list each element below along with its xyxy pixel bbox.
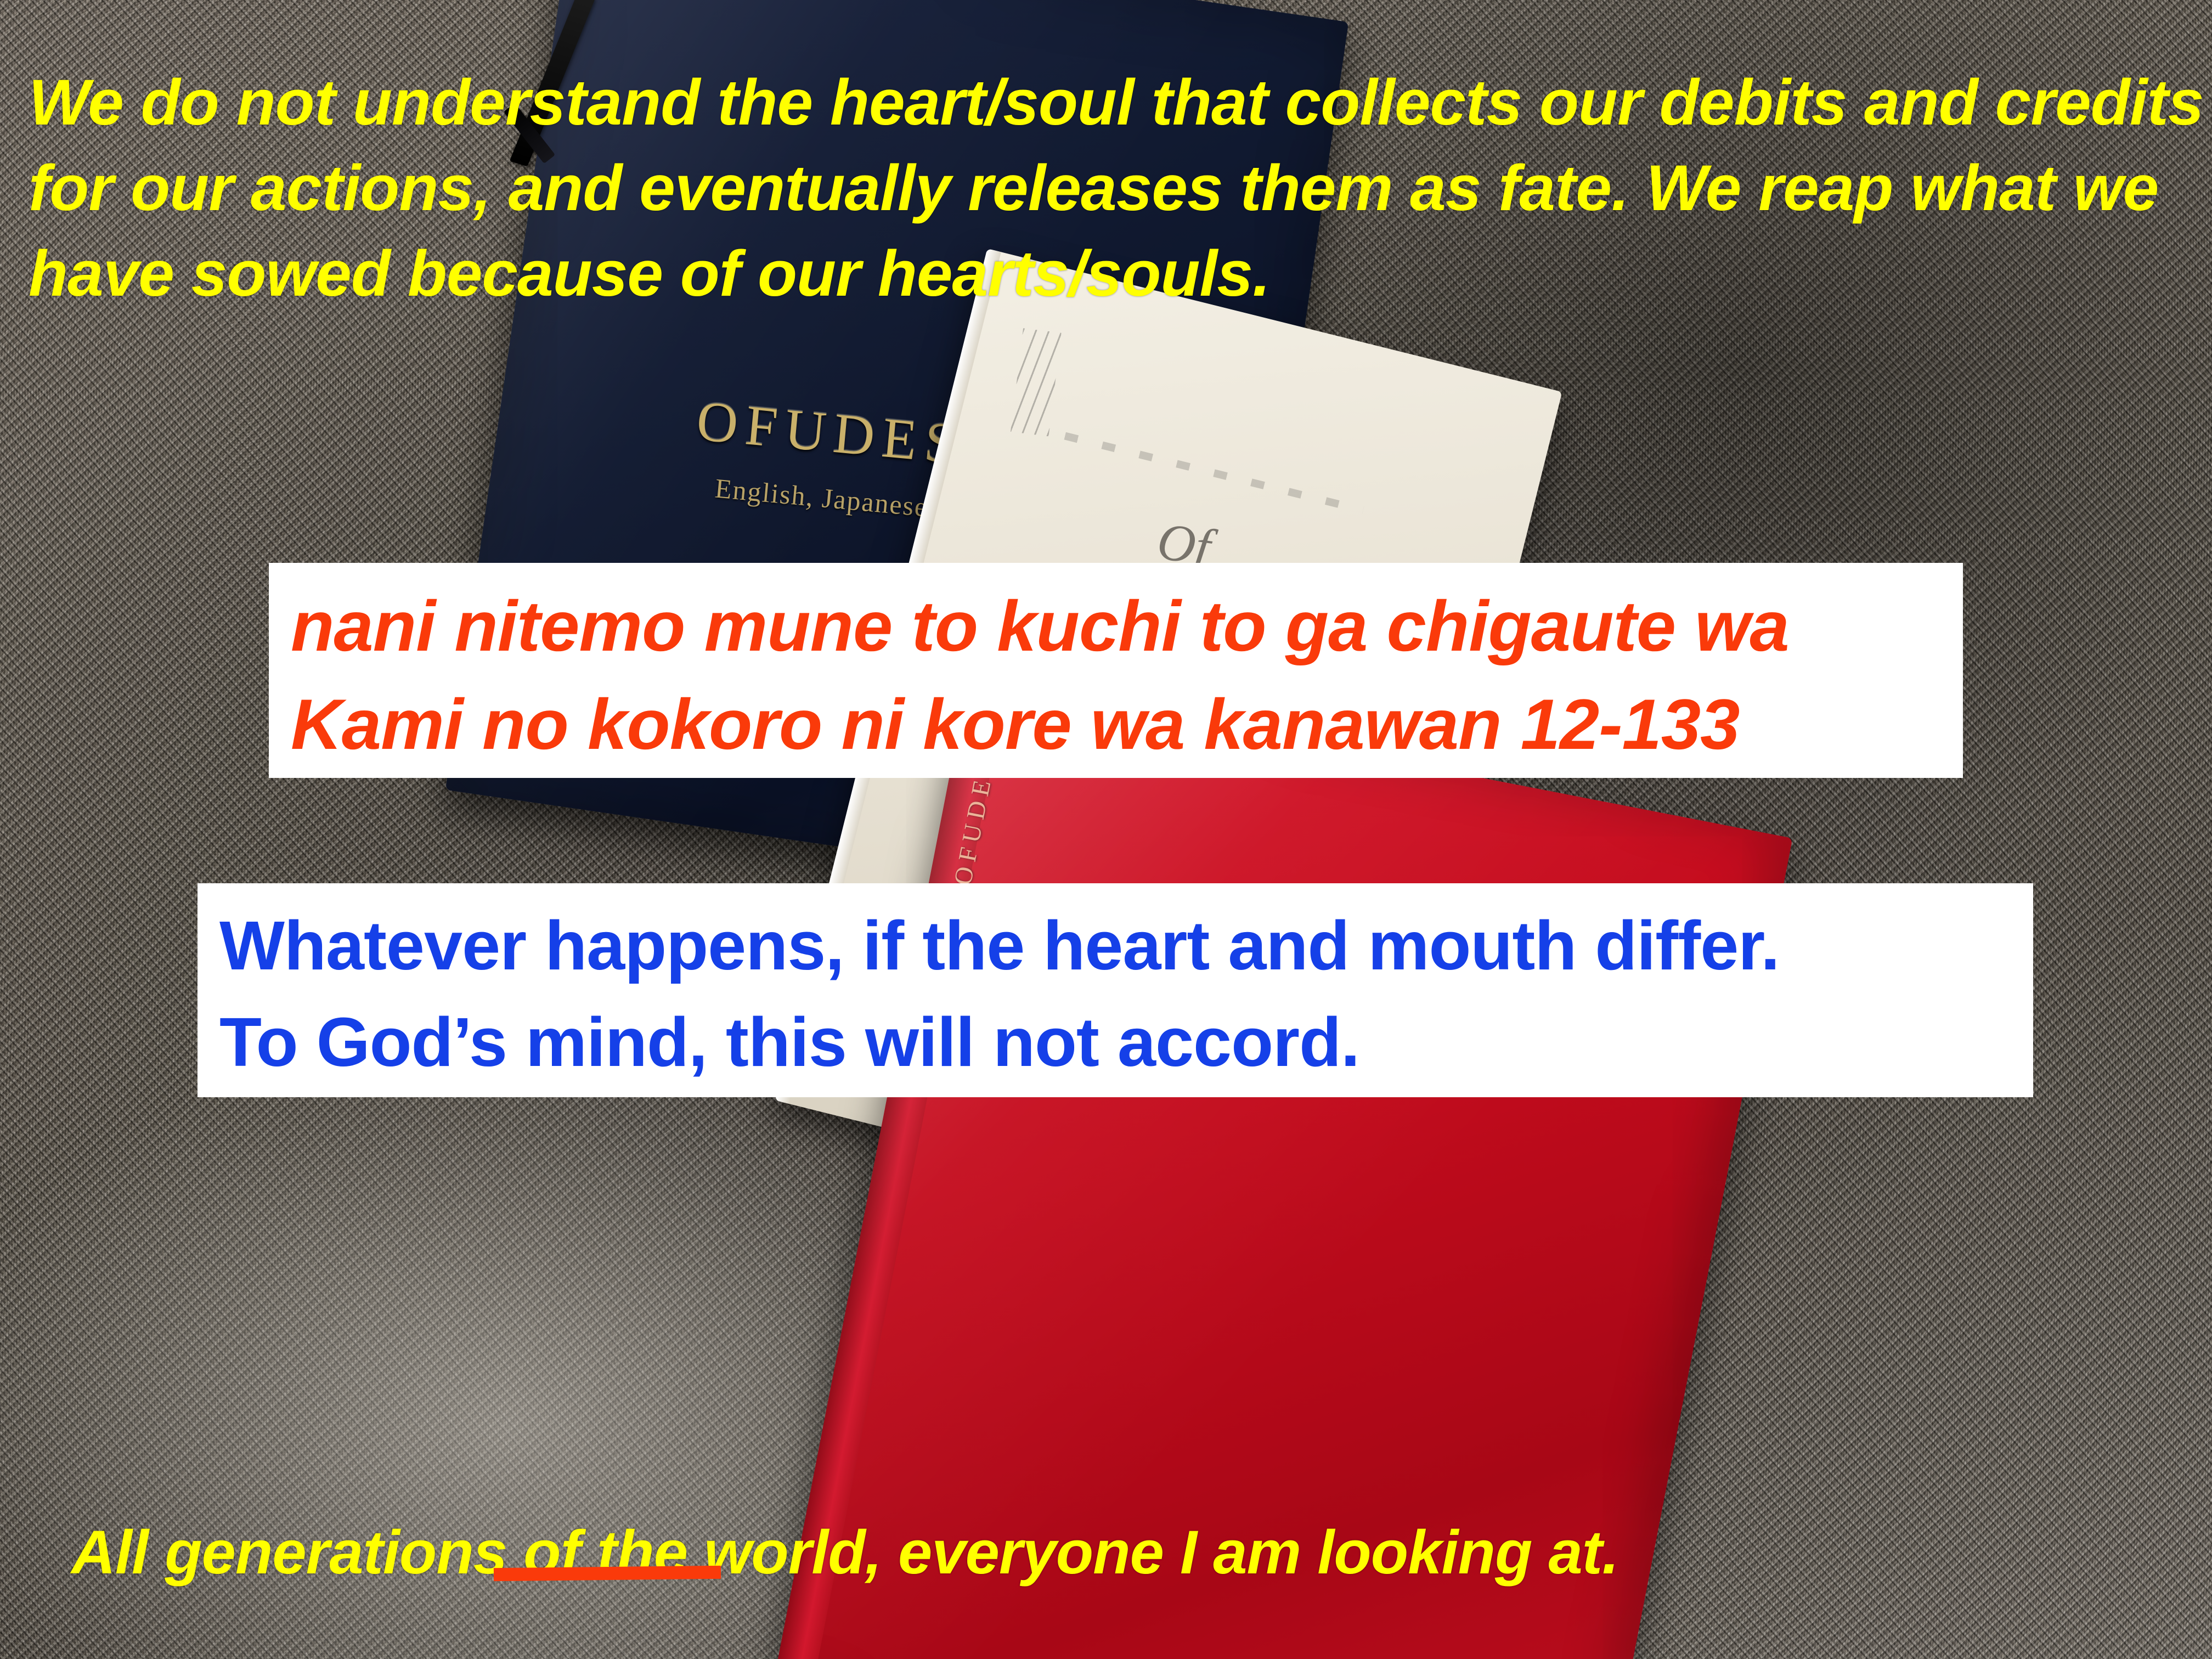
english-line-2: To God’s mind, this will not accord. [219, 994, 2011, 1091]
romaji-line-1: nani nitemo mune to kuchi to ga chigaute… [291, 577, 1941, 675]
romaji-verse-card: nani nitemo mune to kuchi to ga chigaute… [269, 563, 1963, 778]
bottom-caption-block: All generations of the world, everyone I… [71, 1413, 2211, 1659]
english-translation-card: Whatever happens, if the heart and mouth… [198, 883, 2033, 1097]
top-caption-text: We do not understand the heart/soul that… [29, 60, 2212, 317]
cream-notebook-handwriting-marks-2 [1064, 432, 1364, 514]
romaji-line-2: Kami no kokoro ni kore wa kanawan 12-133 [291, 675, 1941, 774]
bottom-caption-line-1: All generations of the world, everyone I… [71, 1506, 2211, 1599]
slide-canvas: OFUDESAKI English, Japanese, and Rom Of … [0, 0, 2212, 1659]
red-underline-mark [494, 1566, 721, 1581]
cream-notebook-handwriting-marks-1 [1011, 328, 1062, 436]
english-line-1: Whatever happens, if the heart and mouth… [219, 898, 2011, 994]
